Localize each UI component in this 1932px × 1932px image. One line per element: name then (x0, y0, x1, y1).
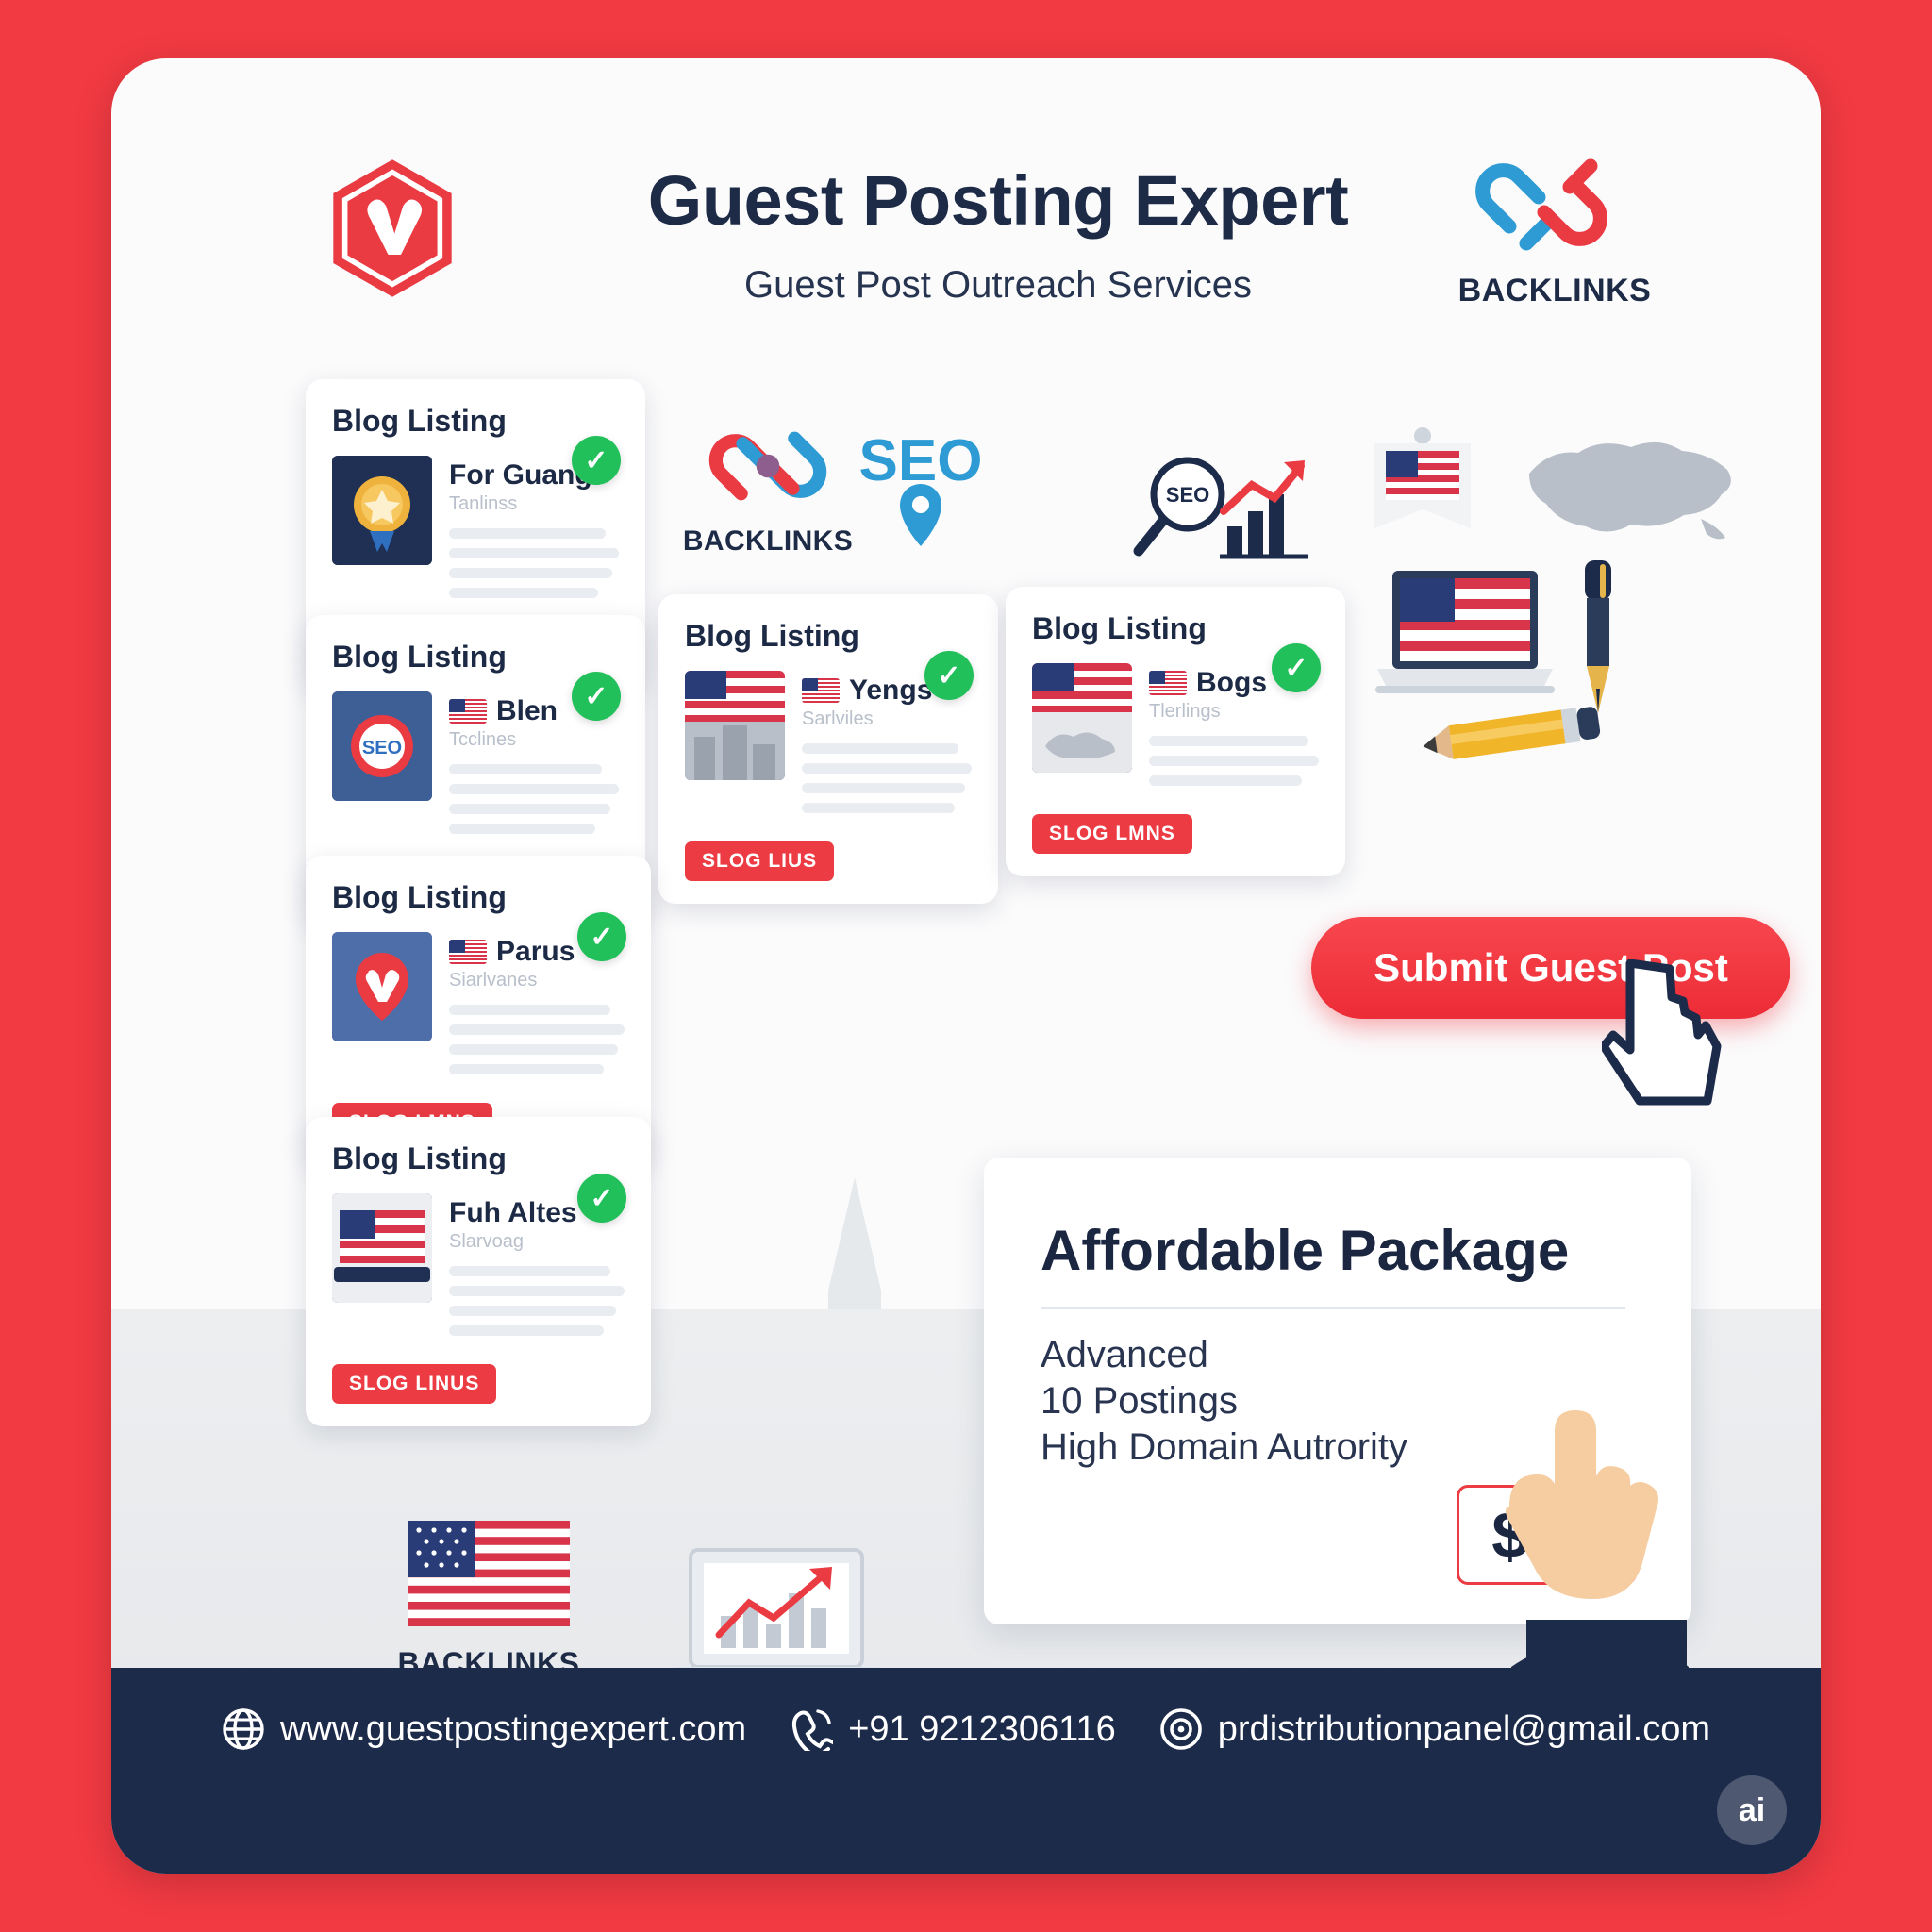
us-flag-icon (802, 678, 840, 703)
card-name-text: Bogs (1196, 667, 1267, 699)
us-flag-laptop-icon (332, 1193, 432, 1303)
list-item[interactable]: Blog Listing ✓ Fuh Altes Slarvoag (306, 1117, 651, 1426)
pointing-hand-icon (1498, 1393, 1696, 1714)
card-subtext: Sarlviles (802, 708, 972, 730)
us-flag-icon (449, 940, 487, 964)
us-flag-icon (408, 1521, 570, 1626)
list-item[interactable]: Blog Listing ✓ (1006, 587, 1345, 876)
icon-backlinks: BACKLINKS (674, 417, 862, 558)
page-title: Guest Posting Expert (517, 160, 1479, 241)
phone-icon (790, 1707, 833, 1751)
instagram-icon (1159, 1707, 1203, 1751)
footer-website-text: www.guestpostingexpert.com (280, 1709, 746, 1750)
divider (1041, 1307, 1625, 1309)
fountain-pen-icon (1572, 557, 1624, 722)
green-check-icon: ✓ (577, 1174, 626, 1223)
location-pin-logo-icon (332, 932, 432, 1041)
card-subtext: Tcclines (449, 729, 619, 751)
us-flag-map-icon (1032, 663, 1132, 773)
placeholder-lines (802, 743, 972, 813)
pointer-hand-cursor-icon (1602, 959, 1734, 1120)
usa-map-icon (1512, 428, 1748, 551)
seo-magnifier-growth-chart-icon: SEO (1133, 453, 1312, 566)
chain-links-icon (688, 417, 848, 515)
placeholder-lines (449, 1266, 625, 1336)
green-check-icon: ✓ (572, 672, 621, 721)
svg-text:SEO: SEO (362, 738, 402, 758)
gold-award-medal-icon (332, 456, 432, 565)
card-subtext: Tlerlings (1149, 701, 1319, 723)
icon-seo: SEO (836, 434, 1006, 555)
globe-icon (222, 1707, 265, 1751)
icon-usa-map (1507, 428, 1753, 556)
icon-backlinks-label: BACKLINKS (674, 525, 862, 558)
card-title: Blog Listing (685, 619, 972, 654)
placeholder-lines (449, 764, 619, 834)
card-title: Blog Listing (332, 1141, 625, 1176)
card-subtext: Slarvoag (449, 1231, 625, 1253)
card-subtext: Tanlinss (449, 493, 619, 515)
card-title: Blog Listing (332, 880, 625, 915)
footer-email[interactable]: prdistributionpanel@gmail.com (1159, 1707, 1710, 1751)
card-name-text: Parus (496, 936, 575, 968)
location-pin-icon (894, 482, 947, 550)
seo-badge-icon: SEO (332, 691, 432, 801)
hexagon-monogram-logo (328, 158, 457, 299)
us-flag-laptop-icon (1375, 563, 1555, 709)
package-title: Affordable Package (1041, 1218, 1635, 1283)
card-name-text: Yengs (849, 675, 932, 707)
blog-links-button[interactable]: SLOG LMNS (1032, 814, 1192, 854)
chain-links-icon (1470, 153, 1640, 257)
blog-links-button[interactable]: SLOG LIUS (685, 841, 834, 881)
placeholder-lines (449, 528, 619, 598)
footer-email-text: prdistributionpanel@gmail.com (1218, 1709, 1710, 1750)
card-title: Blog Listing (332, 640, 619, 675)
us-flag-city-icon (685, 671, 785, 780)
placeholder-lines (1149, 736, 1319, 786)
package-feature: Advanced (1041, 1332, 1635, 1378)
us-flag-icon (1149, 671, 1187, 695)
card-title: Blog Listing (1032, 611, 1319, 646)
ai-watermark-badge: ai (1717, 1775, 1787, 1845)
us-flag-ribbon-icon (1361, 423, 1484, 564)
header-backlinks-badge: BACKLINKS (1432, 153, 1677, 309)
green-check-icon: ✓ (572, 436, 621, 485)
footer-website[interactable]: www.guestpostingexpert.com (222, 1707, 746, 1751)
card-title: Blog Listing (332, 404, 619, 439)
footer-contact-bar: www.guestpostingexpert.com +91 921230611… (111, 1668, 1821, 1874)
green-check-icon: ✓ (924, 651, 974, 700)
footer-phone-text: +91 9212306116 (848, 1709, 1116, 1750)
icon-seo-analytics: SEO (1128, 453, 1317, 571)
icon-us-flag-ribbon (1347, 423, 1498, 569)
bottom-us-flag-backlinks: BACKLINKS (394, 1521, 583, 1681)
page-subtitle: Guest Post Outreach Services (517, 264, 1479, 307)
green-check-icon: ✓ (1272, 643, 1321, 692)
card-subtext: Siarlvanes (449, 970, 625, 991)
blog-links-button[interactable]: SLOG LINUS (332, 1364, 496, 1404)
green-check-icon: ✓ (577, 912, 626, 961)
svg-text:SEO: SEO (1166, 483, 1209, 507)
footer-phone[interactable]: +91 9212306116 (790, 1707, 1116, 1751)
list-item[interactable]: Blog Listing ✓ (658, 594, 998, 904)
placeholder-lines (449, 1005, 625, 1074)
us-flag-icon (449, 699, 487, 724)
poster-canvas: Guest Posting Expert Guest Post Outreach… (111, 58, 1821, 1874)
card-name-text: Blen (496, 695, 558, 727)
header-backlinks-label: BACKLINKS (1432, 273, 1677, 309)
